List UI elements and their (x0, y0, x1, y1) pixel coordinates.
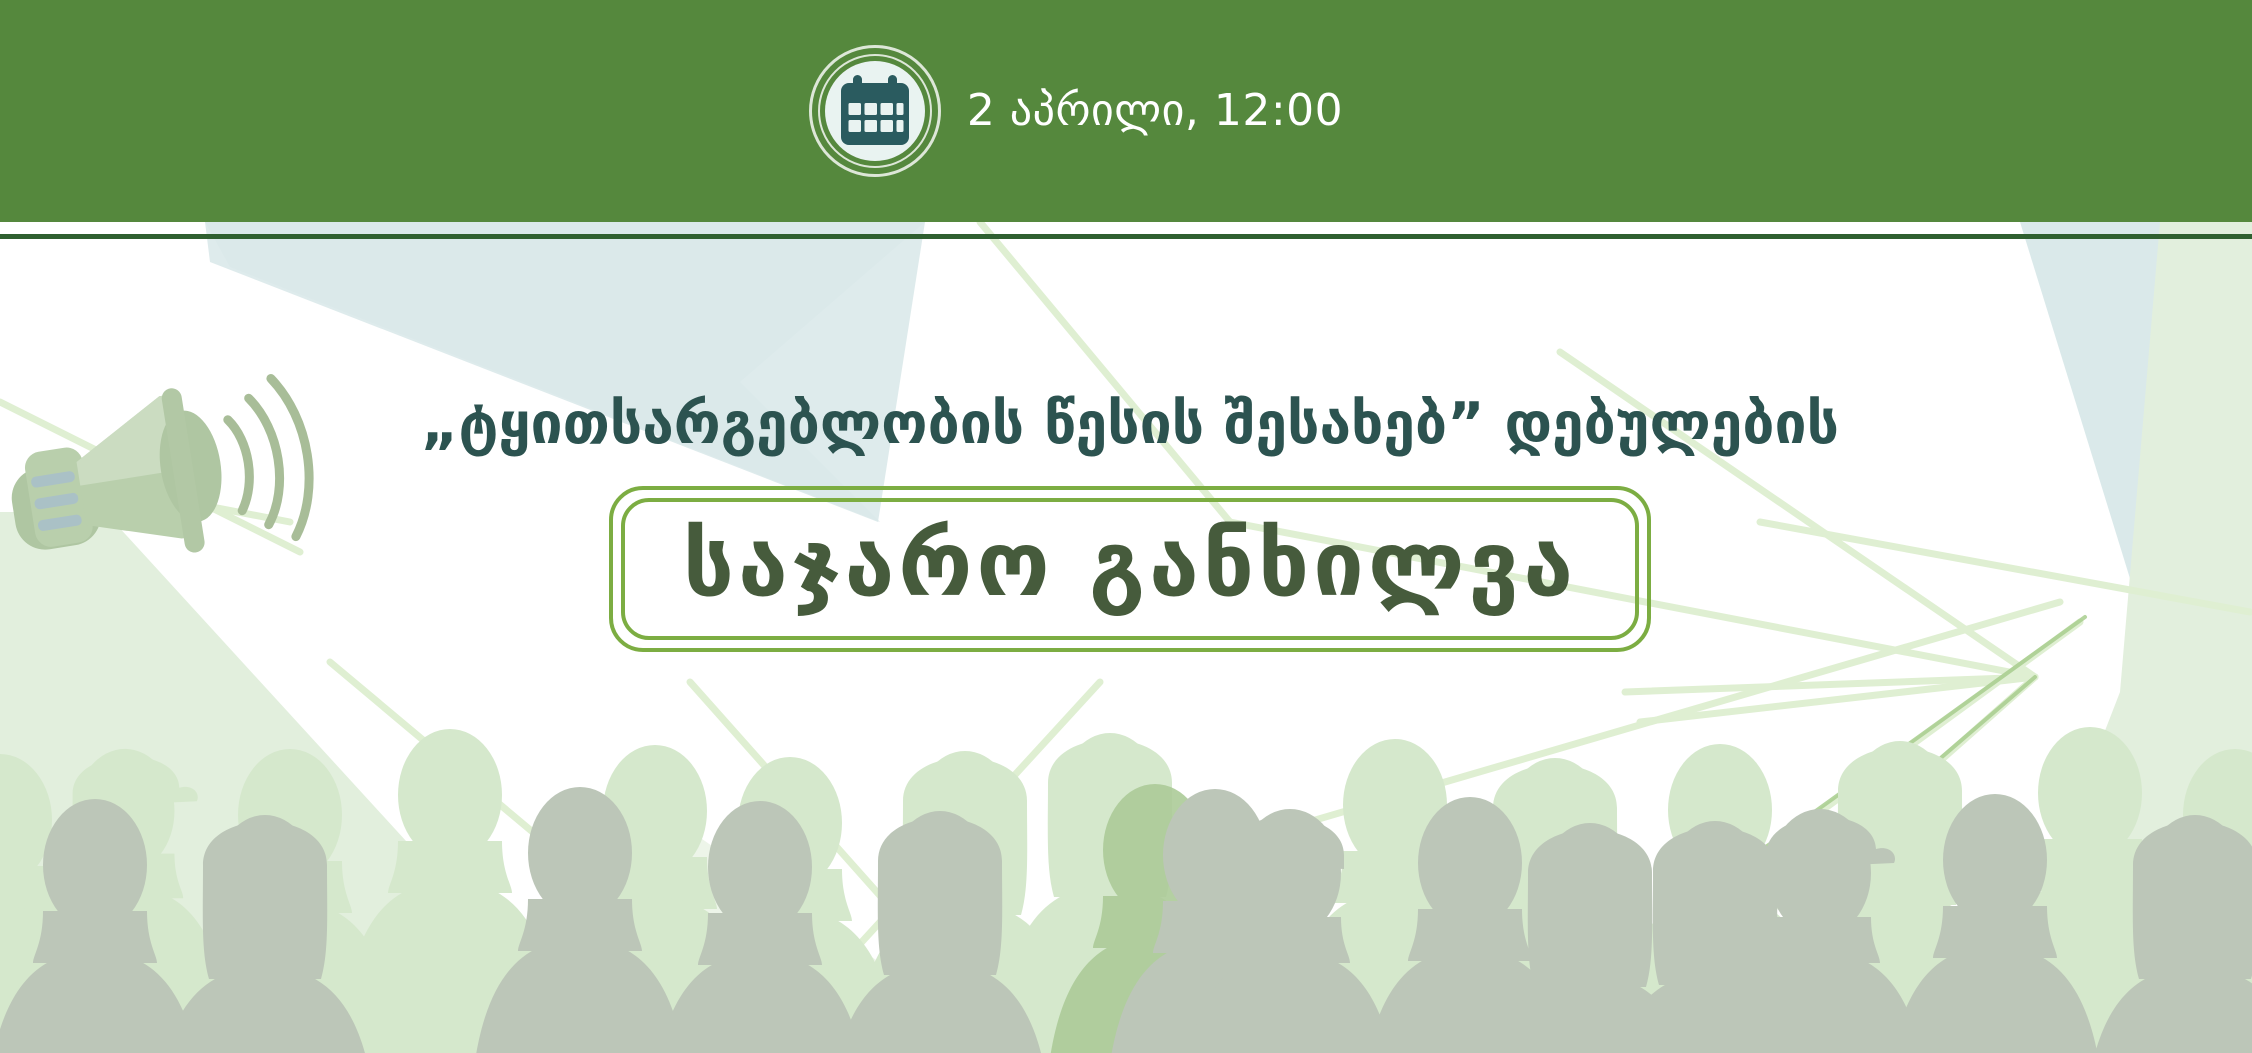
header-content: 2 აპრილი, 12:00 (809, 45, 1343, 177)
announcement-content: „ტყითსარგებლობის წესის შესახებ” დებულები… (380, 390, 1880, 652)
headline-title: საჯარო განხილვა (683, 516, 1577, 613)
headline-frame-inner: საჯარო განხილვა (621, 498, 1639, 639)
headline-frame-outer: საჯარო განხილვა (609, 486, 1651, 651)
event-datetime: 2 აპრილი, 12:00 (967, 89, 1343, 133)
calendar-badge (809, 45, 941, 177)
calendar-icon (825, 61, 925, 161)
header-bar: 2 აპრილი, 12:00 (0, 0, 2252, 222)
announcement-subject: „ტყითსარგებლობის წესის შესახებ” დებულები… (380, 390, 1880, 458)
public-discussion-banner: 2 აპრილი, 12:00 „ტყითსარგებლობის წესის შ… (0, 0, 2252, 1053)
crowd-silhouettes (0, 723, 2252, 1053)
header-divider-rule (0, 234, 2252, 239)
megaphone-icon (2, 372, 332, 582)
